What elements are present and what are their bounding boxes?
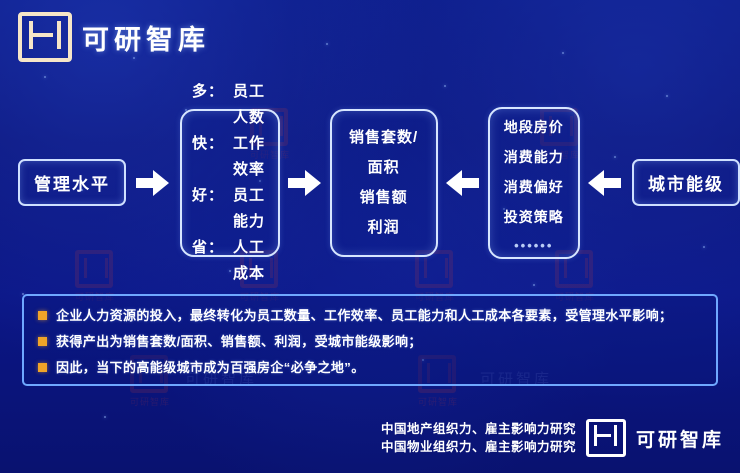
card-row-key: 好： <box>192 183 224 235</box>
bullet-square-icon <box>38 337 47 346</box>
keyan-logo-icon <box>18 12 72 62</box>
arrow-right-icon <box>288 168 322 198</box>
card-row-key: 多： <box>192 79 224 131</box>
card-row: 多： 员工人数 <box>192 79 268 131</box>
footer: 中国地产组织力、雇主影响力研究 中国物业组织力、雇主影响力研究 可研智库 <box>381 419 724 457</box>
slide-canvas: 可研智库 可研智库 可研智库 可研智库 可研智库 可研智库 可研智库 可研智库 … <box>0 0 740 473</box>
bullet-square-icon <box>38 363 47 372</box>
note-text: 因此，当下的高能级城市成为百强房企“必争之地”。 <box>56 358 365 377</box>
note-text: 企业人力资源的投入，最终转化为员工数量、工作效率、员工能力和人工成本各要素，受管… <box>56 306 672 325</box>
footer-line-2: 中国物业组织力、雇主影响力研究 <box>381 438 576 456</box>
footer-line-1: 中国地产组织力、雇主影响力研究 <box>381 420 576 438</box>
card-line: 利润 <box>342 213 426 243</box>
note-text: 获得产出为销售套数/面积、销售额、利润，受城市能级影响； <box>56 332 422 351</box>
footer-brand: 可研智库 <box>636 425 724 452</box>
card-row: 好： 员工能力 <box>192 183 268 235</box>
card-row-key: 快： <box>192 131 224 183</box>
card-line: 地段房价 <box>498 112 571 142</box>
card-row-key: 省： <box>192 235 224 287</box>
note-item: 企业人力资源的投入，最终转化为员工数量、工作效率、员工能力和人工成本各要素，受管… <box>38 306 702 325</box>
footer-research-lines: 中国地产组织力、雇主影响力研究 中国物业组织力、雇主影响力研究 <box>381 420 576 456</box>
arrow-left-icon <box>588 168 622 198</box>
card-line: 消费能力 <box>498 142 571 172</box>
card-row: 快： 工作效率 <box>192 131 268 183</box>
card-line: 投资策略 <box>498 202 571 232</box>
header-brand: 可研智库 <box>18 12 210 62</box>
note-item: 获得产出为销售套数/面积、销售额、利润，受城市能级影响； <box>38 332 702 351</box>
card-line: 消费偏好 <box>498 172 571 202</box>
card-row-value: 员工能力 <box>233 183 268 235</box>
arrow-right-icon <box>136 168 170 198</box>
notes-panel: 企业人力资源的投入，最终转化为员工数量、工作效率、员工能力和人工成本各要素，受管… <box>22 294 718 386</box>
card-ellipsis: •••••• <box>498 238 571 253</box>
card-row: 省： 人工成本 <box>192 235 268 287</box>
flow-diagram: 管理水平 多： 员工人数 快： 工作效率 好： 员工能力 省： 人工成本 <box>0 100 740 265</box>
brand-title: 可研智库 <box>82 18 210 57</box>
bullet-square-icon <box>38 311 47 320</box>
card-row-value: 人工成本 <box>233 235 268 287</box>
flow-card-outputs: 销售套数/面积 销售额 利润 <box>330 109 438 257</box>
flow-left-label: 管理水平 <box>18 159 126 206</box>
keyan-logo-icon <box>586 419 626 457</box>
flow-right-label: 城市能级 <box>632 159 740 206</box>
note-item: 因此，当下的高能级城市成为百强房企“必争之地”。 <box>38 358 702 377</box>
card-line: 销售套数/面积 <box>342 123 426 183</box>
arrow-left-icon <box>446 168 480 198</box>
card-row-value: 员工人数 <box>233 79 268 131</box>
flow-card-inputs: 多： 员工人数 快： 工作效率 好： 员工能力 省： 人工成本 <box>180 109 280 257</box>
flow-card-city-factors: 地段房价 消费能力 消费偏好 投资策略 •••••• <box>488 107 581 259</box>
card-line: 销售额 <box>342 183 426 213</box>
card-row-value: 工作效率 <box>233 131 268 183</box>
